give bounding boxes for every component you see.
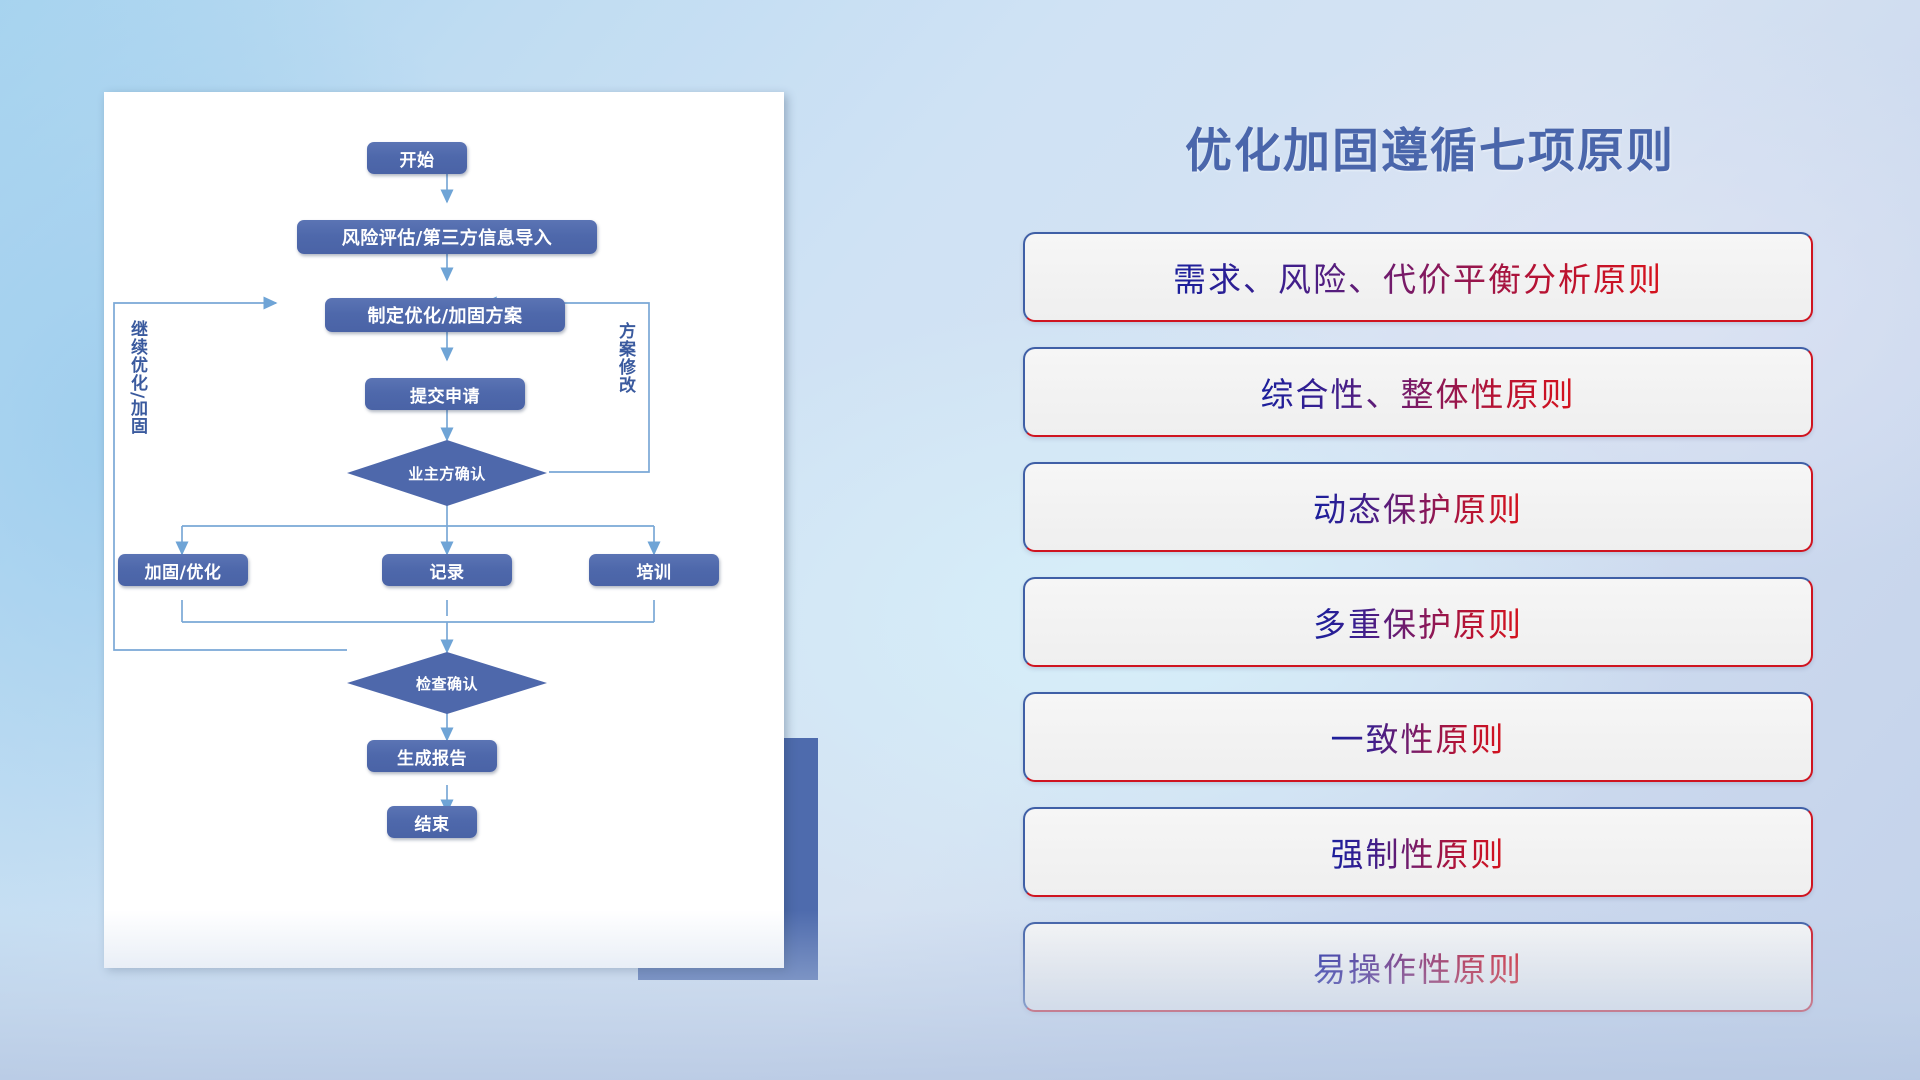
- flow-node-submit-application[interactable]: 提交申请: [365, 378, 525, 410]
- flow-node-generate-report[interactable]: 生成报告: [367, 740, 497, 772]
- flow-node-reinforce[interactable]: 加固/优化: [118, 554, 248, 586]
- principle-item-5[interactable]: 一致性原则: [1023, 692, 1813, 782]
- principle-item-7[interactable]: 易操作性原则: [1023, 922, 1813, 1012]
- principle-item-4[interactable]: 多重保护原则: [1023, 577, 1813, 667]
- flow-node-label: 提交申请: [410, 382, 480, 407]
- page-title: 优化加固遵循七项原则: [1030, 112, 1830, 181]
- flow-node-start[interactable]: 开始: [367, 142, 467, 174]
- slide-canvas: 开始 风险评估/第三方信息导入 制定优化/加固方案 提交申请 业主方确认 加固/…: [0, 0, 1920, 1080]
- flowchart-card: 开始 风险评估/第三方信息导入 制定优化/加固方案 提交申请 业主方确认 加固/…: [104, 92, 784, 968]
- flow-node-label: 制定优化/加固方案: [367, 302, 522, 328]
- flow-node-label: 风险评估/第三方信息导入: [342, 224, 553, 250]
- flow-edge-label-right: 方案修改: [616, 322, 633, 394]
- flow-node-label: 检查确认: [416, 673, 478, 694]
- flow-node-label: 生成报告: [397, 744, 467, 769]
- principle-label: 动态保护原则: [1313, 483, 1523, 531]
- principles-list: 需求、风险、代价平衡分析原则 综合性、整体性原则 动态保护原则 多重保护原则 一…: [1023, 232, 1813, 1037]
- flow-node-end[interactable]: 结束: [387, 806, 477, 838]
- principle-label: 综合性、整体性原则: [1261, 368, 1576, 416]
- flow-node-label: 业主方确认: [408, 463, 486, 484]
- principle-label: 多重保护原则: [1313, 598, 1523, 646]
- flow-node-label: 培训: [637, 558, 672, 583]
- flow-node-inspect-confirm[interactable]: 检查确认: [347, 652, 547, 714]
- flow-node-owner-confirm[interactable]: 业主方确认: [347, 440, 547, 506]
- flow-node-label: 开始: [400, 146, 435, 171]
- principle-item-6[interactable]: 强制性原则: [1023, 807, 1813, 897]
- principle-label: 强制性原则: [1331, 828, 1506, 876]
- flow-node-label: 结束: [415, 810, 450, 835]
- flow-node-label: 记录: [430, 558, 465, 583]
- principle-label: 易操作性原则: [1313, 943, 1523, 991]
- flow-node-risk-assessment[interactable]: 风险评估/第三方信息导入: [297, 220, 597, 254]
- principle-item-3[interactable]: 动态保护原则: [1023, 462, 1813, 552]
- principle-item-1[interactable]: 需求、风险、代价平衡分析原则: [1023, 232, 1813, 322]
- flow-edge-label-left: 继续优化/加固: [128, 320, 145, 435]
- principle-label: 需求、风险、代价平衡分析原则: [1173, 253, 1663, 301]
- principle-label: 一致性原则: [1331, 713, 1506, 761]
- flow-node-record[interactable]: 记录: [382, 554, 512, 586]
- flow-node-label: 加固/优化: [145, 558, 222, 583]
- flow-node-make-plan[interactable]: 制定优化/加固方案: [325, 298, 565, 332]
- principle-item-2[interactable]: 综合性、整体性原则: [1023, 347, 1813, 437]
- flow-node-training[interactable]: 培训: [589, 554, 719, 586]
